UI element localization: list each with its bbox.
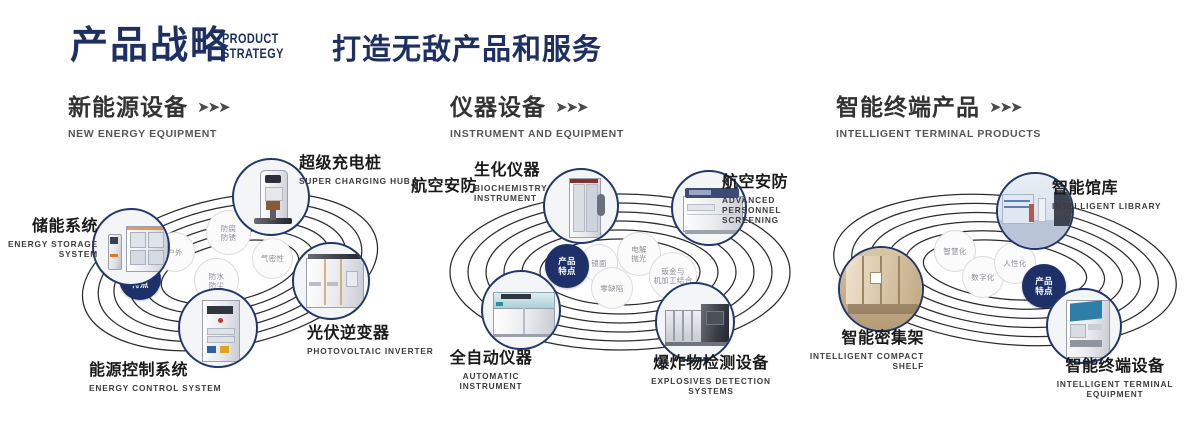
section-title-instrument: 仪器设备➤➤➤ INSTRUMENT AND EQUIPMENT xyxy=(450,96,624,140)
label-en: BIOCHEMISTRY INSTRUMENT xyxy=(474,183,548,203)
node-bubble-biochemistry-instrument[interactable] xyxy=(543,168,619,244)
feature-line1: 智慧化 xyxy=(943,247,966,256)
label-super-charging-hub: 超级充电桩 SUPER CHARGING HUB xyxy=(299,155,411,186)
chevron-triple-icon: ➤➤➤ xyxy=(989,100,1021,115)
label-en: INTELLIGENT COMPACT SHELF xyxy=(790,351,924,371)
label-en: INTELLIGENT TERMINAL EQUIPMENT xyxy=(1032,379,1198,399)
label-biochemistry-instrument: 生化仪器 BIOCHEMISTRY INSTRUMENT xyxy=(474,162,548,203)
label-en: ENERGY STORAGE SYSTEM xyxy=(0,239,98,259)
chevron-triple-icon: ➤➤➤ xyxy=(555,100,587,115)
section-title-new-energy: 新能源设备➤➤➤ NEW ENERGY EQUIPMENT xyxy=(68,96,229,140)
feature-line1: 镜面 xyxy=(591,259,607,268)
label-personnel-screening: 航空安防 ADVANCED PERSONNEL SCREENING xyxy=(722,174,816,225)
section-title-cn-text: 新能源设备 xyxy=(68,94,188,120)
section-title-cn-text: 仪器设备 xyxy=(450,94,546,120)
label-explosives-detection: 爆炸物检测设备 EXPLOSIVES DETECTION SYSTEMS xyxy=(636,355,786,396)
section-title-en: INSTRUMENT AND EQUIPMENT xyxy=(450,128,624,140)
feature-line1: 防水 xyxy=(209,272,225,281)
section-title-cn: 智能终端产品➤➤➤ xyxy=(836,96,1041,119)
security-gate-art xyxy=(545,170,617,242)
node-bubble-terminal-equipment[interactable] xyxy=(1046,288,1122,364)
label-energy-control-system: 能源控制系统 ENERGY CONTROL SYSTEM xyxy=(89,362,221,393)
core-line2: 特点 xyxy=(558,266,576,276)
label-en: AUTOMATIC INSTRUMENT xyxy=(434,371,548,391)
feature-line1: 数字化 xyxy=(971,273,994,282)
core-line1: 产品 xyxy=(558,256,576,266)
label-photovoltaic-inverter: 光伏逆变器 PHOTOVOLTAIC INVERTER xyxy=(307,325,434,356)
label-automatic-instrument: 全自动仪器 AUTOMATIC INSTRUMENT xyxy=(434,350,548,391)
feature-line1: 气密性 xyxy=(261,254,284,263)
compact-shelf-art xyxy=(840,248,922,330)
label-cn: 航空安防 xyxy=(411,178,477,196)
node-bubble-energy-control[interactable] xyxy=(178,288,258,368)
node-bubble-compact-shelf[interactable] xyxy=(838,246,924,332)
label-cn: 智能终端设备 xyxy=(1032,358,1198,376)
label-en: SUPER CHARGING HUB xyxy=(299,176,411,186)
label-cn: 能源控制系统 xyxy=(89,362,221,380)
label-cn: 智能密集架 xyxy=(790,330,924,348)
feature-line1: 电解 xyxy=(631,245,647,254)
chevron-triple-icon: ➤➤➤ xyxy=(197,100,229,115)
label-cn: 超级充电桩 xyxy=(299,155,411,173)
node-bubble-energy-storage[interactable] xyxy=(92,208,170,286)
label-energy-storage: 储能系统 ENERGY STORAGE SYSTEM xyxy=(0,218,98,259)
feature-line2: 抛光 xyxy=(631,254,647,263)
label-aviation-security-left: 航空安防 xyxy=(411,178,477,196)
label-en: ADVANCED PERSONNEL SCREENING xyxy=(722,195,816,225)
label-en: ENERGY CONTROL SYSTEM xyxy=(89,383,221,393)
header-title-en-line1: PRODUCT xyxy=(222,31,284,46)
label-en: INTELLIGENT LIBRARY xyxy=(1052,201,1161,211)
core-line1: 产品 xyxy=(1035,276,1053,286)
section-title-cn: 新能源设备➤➤➤ xyxy=(68,96,229,119)
explosives-detector-art xyxy=(657,284,733,360)
feature-bubble: 零缺陷 xyxy=(591,267,633,309)
label-cn: 智能馆库 xyxy=(1052,180,1161,198)
section-title-cn: 仪器设备➤➤➤ xyxy=(450,96,624,119)
control-cabinet-art xyxy=(180,290,256,366)
node-bubble-automatic-instrument[interactable] xyxy=(481,270,561,350)
label-cn: 全自动仪器 xyxy=(434,350,548,368)
poster-root: 产品战略 PRODUCT STRATEGY 打造无敌产品和服务 新能源设备➤➤➤… xyxy=(0,0,1200,422)
node-bubble-photovoltaic-inverter[interactable] xyxy=(292,242,370,320)
kiosk-terminal-art xyxy=(1048,290,1120,362)
header-title-en-line2: STRATEGY xyxy=(222,46,284,61)
label-cn: 航空安防 xyxy=(722,174,816,192)
label-intelligent-library: 智能馆库 INTELLIGENT LIBRARY xyxy=(1052,180,1161,211)
poster-header: 产品战略 PRODUCT STRATEGY 打造无敌产品和服务 xyxy=(0,0,1200,92)
label-compact-shelf: 智能密集架 INTELLIGENT COMPACT SHELF xyxy=(790,330,924,371)
feature-line1: 零缺陷 xyxy=(600,284,623,293)
node-bubble-explosives-detection[interactable] xyxy=(655,282,735,362)
label-terminal-equipment: 智能终端设备 INTELLIGENT TERMINAL EQUIPMENT xyxy=(1032,358,1198,399)
header-title-en: PRODUCT STRATEGY xyxy=(222,31,284,61)
section-title-intelligent-terminal: 智能终端产品➤➤➤ INTELLIGENT TERMINAL PRODUCTS xyxy=(836,96,1041,140)
feature-line1: 钣金与 xyxy=(661,267,684,276)
inverter-cabinet-art xyxy=(294,244,368,318)
automatic-analyzer-art xyxy=(483,272,559,348)
section-title-en: INTELLIGENT TERMINAL PRODUCTS xyxy=(836,128,1041,140)
feature-bubble: 气密性 xyxy=(252,238,293,279)
label-cn: 储能系统 xyxy=(0,218,98,236)
section-title-en: NEW ENERGY EQUIPMENT xyxy=(68,128,229,140)
label-cn: 生化仪器 xyxy=(474,162,548,180)
charging-pile-art xyxy=(234,160,308,234)
label-en: EXPLOSIVES DETECTION SYSTEMS xyxy=(636,376,786,396)
feature-line1: 人性化 xyxy=(1003,259,1026,268)
label-en: PHOTOVOLTAIC INVERTER xyxy=(307,346,434,356)
header-slogan: 打造无敌产品和服务 xyxy=(332,36,602,65)
section-title-cn-text: 智能终端产品 xyxy=(836,94,980,120)
label-cn: 爆炸物检测设备 xyxy=(636,355,786,373)
energy-storage-cabinet-art xyxy=(94,210,168,284)
header-title-cn: 产品战略 xyxy=(70,27,230,65)
label-cn: 光伏逆变器 xyxy=(307,325,434,343)
